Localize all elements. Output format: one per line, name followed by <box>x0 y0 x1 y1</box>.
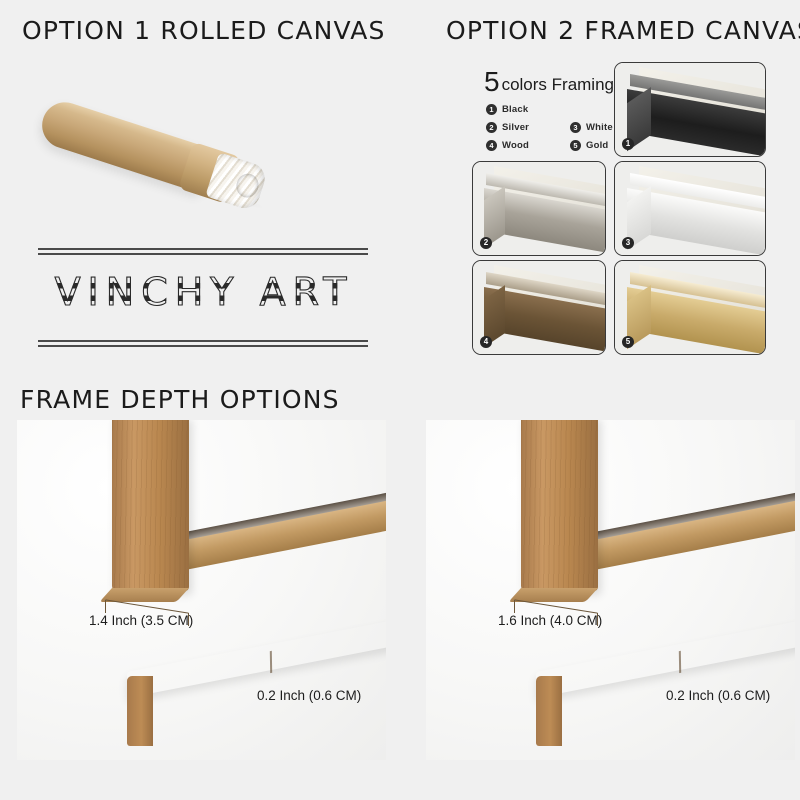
frame-depth-photo-right: 1.6 Inch (4.0 CM) 0.2 Inch (0.6 CM) <box>426 420 795 760</box>
rolled-canvas-illustration <box>40 70 270 195</box>
swatch-number-4: 4 <box>480 336 492 348</box>
logo-rule-top-outer <box>38 248 368 250</box>
swatch-number-5: 5 <box>622 336 634 348</box>
badge-5-icon: 5 <box>570 140 581 151</box>
badge-3-icon: 3 <box>570 122 581 133</box>
frame-vertical-stile <box>521 420 598 591</box>
legend-label-wood: Wood <box>502 140 529 151</box>
badge-4-icon: 4 <box>486 140 497 151</box>
frame-corner-photo <box>473 261 605 354</box>
legend-label-black: Black <box>502 104 528 115</box>
thickness-dimension-label: 0.2 Inch (0.6 CM) <box>666 688 770 703</box>
legend-label-gold: Gold <box>586 140 608 151</box>
logo-rule-bottom-inner <box>38 340 368 342</box>
framing-heading-text: colors Framing <box>502 75 614 94</box>
frame-swatch-black[interactable]: 1 <box>614 62 766 157</box>
badge-2-icon: 2 <box>486 122 497 133</box>
frame-corner-photo <box>473 162 605 255</box>
frame-swatch-wood[interactable]: 4 <box>472 260 606 355</box>
logo-rule-top-inner <box>38 253 368 255</box>
swatch-number-3: 3 <box>622 237 634 249</box>
depth-dimension-label: 1.6 Inch (4.0 CM) <box>498 613 602 628</box>
frame-depth-title: FRAME DEPTH OPTIONS <box>20 385 340 414</box>
wall-background <box>17 420 386 760</box>
frame-corner-photo <box>615 162 765 255</box>
framing-heading: 5colors Framing <box>484 66 614 98</box>
badge-1-icon: 1 <box>486 104 497 115</box>
thin-strip-end-cap <box>536 676 562 746</box>
frame-corner-photo <box>615 261 765 354</box>
framing-colors-panel: 5colors Framing 1 Black 2 Silver 3 White <box>470 60 770 360</box>
thin-strip-end-cap <box>127 676 153 746</box>
framing-count: 5 <box>484 66 500 97</box>
frame-swatch-gold[interactable]: 5 <box>614 260 766 355</box>
logo-wordmark: VINCHY ART <box>48 270 360 314</box>
frame-corner-photo <box>615 63 765 156</box>
frame-vertical-stile <box>112 420 189 591</box>
legend-item-black: 1 Black <box>486 104 548 115</box>
frame-depth-photo-left: 1.4 Inch (3.5 CM) 0.2 Inch (0.6 CM) <box>17 420 386 760</box>
swatch-number-1: 1 <box>622 138 634 150</box>
depth-tick-start <box>514 600 515 613</box>
tube-group <box>26 77 276 243</box>
option2-title: OPTION 2 FRAMED CANVAS <box>446 16 800 45</box>
option1-title: OPTION 1 ROLLED CANVAS <box>22 16 386 45</box>
frame-swatch-white[interactable]: 3 <box>614 161 766 256</box>
logo-rule-bottom-outer <box>38 345 368 347</box>
thickness-dimension-label: 0.2 Inch (0.6 CM) <box>257 688 361 703</box>
wall-background <box>426 420 795 760</box>
legend-label-silver: Silver <box>502 122 529 133</box>
legend-item-silver: 2 Silver <box>486 122 548 133</box>
infographic-page: OPTION 1 ROLLED CANVAS VINCHY ART OPTION… <box>0 0 800 800</box>
legend-item-wood: 4 Wood <box>486 140 548 151</box>
brand-logo: VINCHY ART <box>38 248 368 352</box>
frame-swatch-silver[interactable]: 2 <box>472 161 606 256</box>
depth-dimension-label: 1.4 Inch (3.5 CM) <box>89 613 193 628</box>
swatch-number-2: 2 <box>480 237 492 249</box>
tube-core-opening <box>233 171 261 201</box>
depth-tick-start <box>105 600 106 613</box>
legend-label-white: White <box>586 122 613 133</box>
